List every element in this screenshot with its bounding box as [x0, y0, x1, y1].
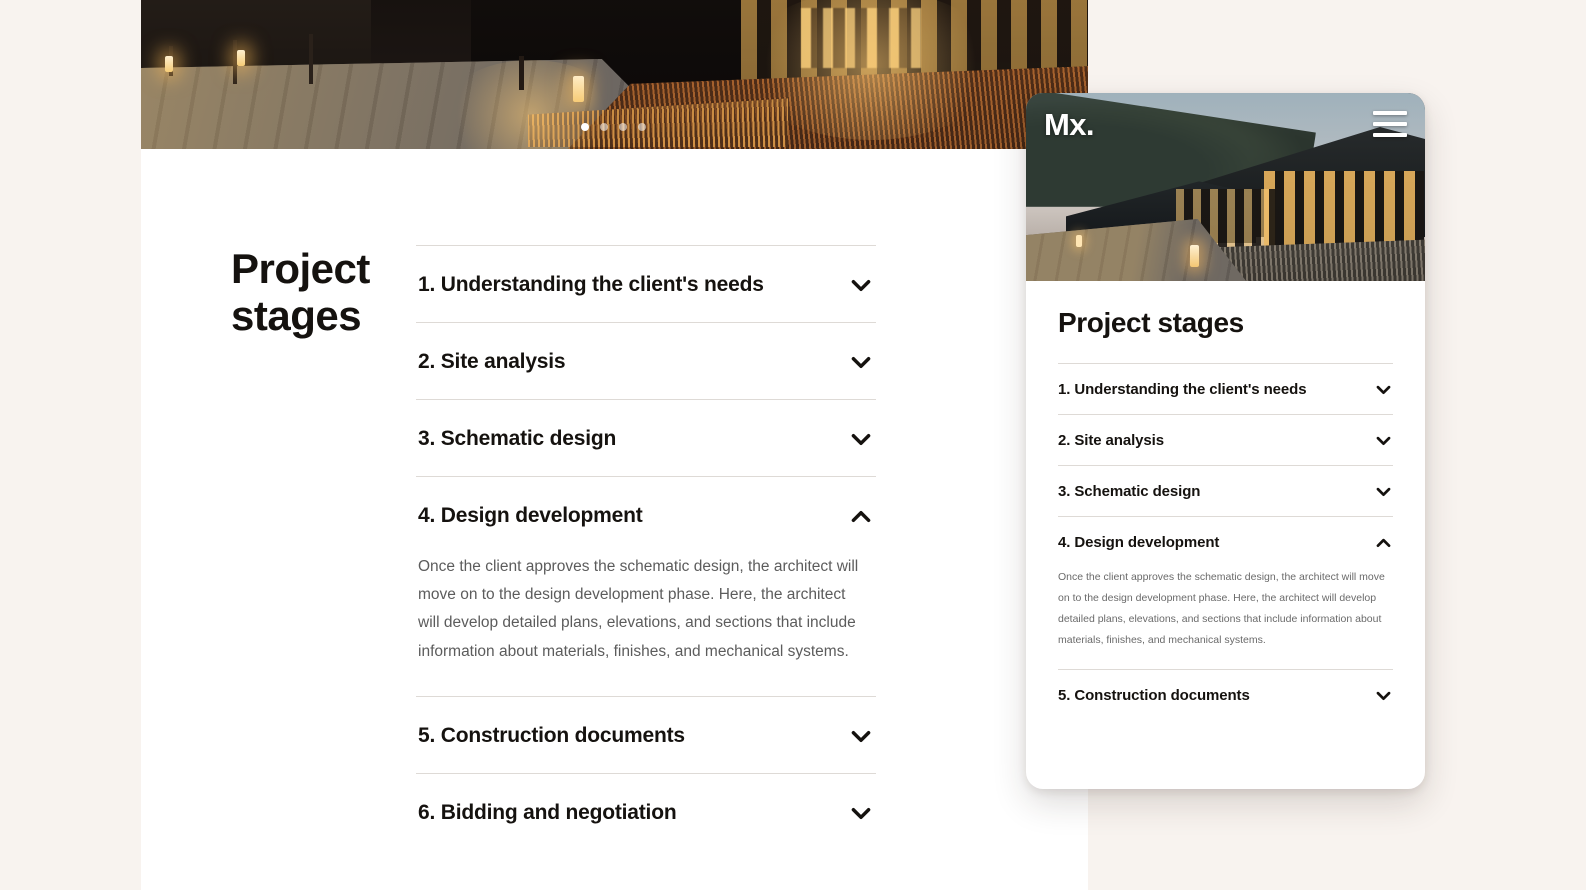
- mobile-accordion-item-2: 2. Site analysis: [1058, 414, 1393, 465]
- accordion-item-5: 5. Construction documents: [416, 696, 876, 773]
- chevron-down-icon[interactable]: [1374, 686, 1393, 705]
- mobile-page-title: Project stages: [1058, 307, 1393, 339]
- hamburger-menu-icon[interactable]: [1373, 111, 1407, 137]
- chevron-down-icon[interactable]: [848, 272, 874, 298]
- accordion-item-2: 2. Site analysis: [416, 322, 876, 399]
- mobile-accordion-panel-body: Once the client approves the schematic d…: [1058, 567, 1393, 669]
- accordion-label: 3. Schematic design: [1058, 483, 1200, 500]
- accordion-label: 6. Bidding and negotiation: [418, 801, 676, 825]
- chevron-down-icon[interactable]: [848, 349, 874, 375]
- chevron-up-icon[interactable]: [1374, 533, 1393, 552]
- carousel-dots[interactable]: [581, 123, 646, 131]
- accordion-label: 5. Construction documents: [1058, 687, 1250, 704]
- brand-logo[interactable]: Mx.: [1044, 107, 1094, 143]
- accordion-header-2[interactable]: 2. Site analysis: [416, 323, 876, 399]
- page-title: Project stages: [141, 245, 416, 850]
- accordion-item-4: 4. Design development Once the client ap…: [416, 476, 876, 696]
- carousel-dot[interactable]: [638, 123, 646, 131]
- carousel-dot[interactable]: [600, 123, 608, 131]
- chevron-up-icon[interactable]: [848, 503, 874, 529]
- accordion-label: 1. Understanding the client's needs: [1058, 381, 1306, 398]
- accordion-panel-body: Once the client approves the schematic d…: [416, 553, 868, 696]
- page-root: Project stages 1. Understanding the clie…: [0, 0, 1586, 890]
- mobile-accordion-header-5[interactable]: 5. Construction documents: [1058, 670, 1393, 720]
- carousel-dot[interactable]: [581, 123, 589, 131]
- desktop-accordion: 1. Understanding the client's needs 2. S…: [416, 245, 876, 850]
- chevron-down-icon[interactable]: [848, 426, 874, 452]
- accordion-label: 2. Site analysis: [1058, 432, 1164, 449]
- desktop-preview-panel: Project stages 1. Understanding the clie…: [141, 0, 1088, 890]
- accordion-header-3[interactable]: 3. Schematic design: [416, 400, 876, 476]
- accordion-header-5[interactable]: 5. Construction documents: [416, 697, 876, 773]
- accordion-header-4[interactable]: 4. Design development: [416, 477, 876, 553]
- mobile-accordion-item-3: 3. Schematic design: [1058, 465, 1393, 516]
- mobile-accordion: 1. Understanding the client's needs 2. S…: [1058, 363, 1393, 720]
- accordion-label: 2. Site analysis: [418, 350, 565, 374]
- mobile-accordion-header-3[interactable]: 3. Schematic design: [1058, 466, 1393, 516]
- chevron-down-icon[interactable]: [848, 723, 874, 749]
- chevron-down-icon[interactable]: [848, 800, 874, 826]
- mobile-accordion-header-1[interactable]: 1. Understanding the client's needs: [1058, 364, 1393, 414]
- desktop-content: Project stages 1. Understanding the clie…: [141, 149, 1088, 850]
- mobile-accordion-header-2[interactable]: 2. Site analysis: [1058, 415, 1393, 465]
- accordion-item-6: 6. Bidding and negotiation: [416, 773, 876, 850]
- mobile-preview-card: Mx. Project stages 1. Understanding the …: [1026, 93, 1425, 789]
- mobile-hero: Mx.: [1026, 93, 1425, 281]
- carousel-dot[interactable]: [619, 123, 627, 131]
- accordion-header-1[interactable]: 1. Understanding the client's needs: [416, 246, 876, 322]
- mobile-accordion-item-5: 5. Construction documents: [1058, 669, 1393, 720]
- accordion-label: 3. Schematic design: [418, 427, 616, 451]
- mobile-accordion-item-4: 4. Design development Once the client ap…: [1058, 516, 1393, 669]
- accordion-label: 5. Construction documents: [418, 724, 685, 748]
- chevron-down-icon[interactable]: [1374, 482, 1393, 501]
- accordion-label: 1. Understanding the client's needs: [418, 273, 764, 297]
- accordion-label: 4. Design development: [1058, 534, 1219, 551]
- mobile-accordion-header-4[interactable]: 4. Design development: [1058, 517, 1393, 567]
- chevron-down-icon[interactable]: [1374, 431, 1393, 450]
- accordion-label: 4. Design development: [418, 504, 643, 528]
- mobile-accordion-item-1: 1. Understanding the client's needs: [1058, 363, 1393, 414]
- accordion-item-1: 1. Understanding the client's needs: [416, 245, 876, 322]
- desktop-hero-carousel[interactable]: [141, 0, 1088, 149]
- accordion-item-3: 3. Schematic design: [416, 399, 876, 476]
- accordion-header-6[interactable]: 6. Bidding and negotiation: [416, 774, 876, 850]
- chevron-down-icon[interactable]: [1374, 380, 1393, 399]
- mobile-content: Project stages 1. Understanding the clie…: [1026, 281, 1425, 720]
